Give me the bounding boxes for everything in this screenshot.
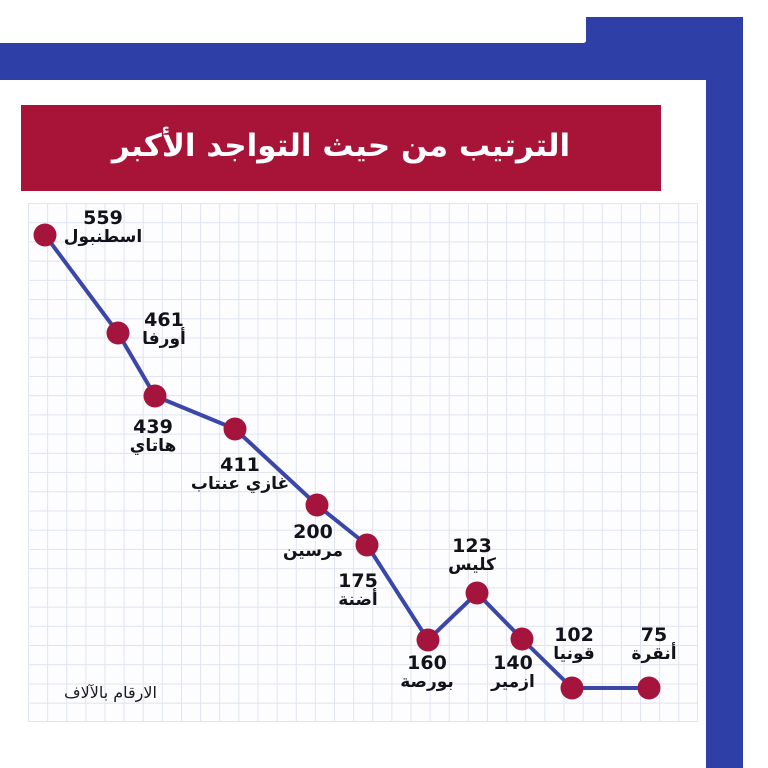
data-point-marker: [306, 494, 329, 517]
data-point-city: ازمير: [491, 674, 535, 691]
data-point-marker: [511, 628, 534, 651]
data-point-city: مرسين: [283, 543, 343, 560]
data-point-city: أضنة: [338, 592, 378, 609]
data-point-marker: [466, 582, 489, 605]
data-point-value: 123: [448, 537, 496, 556]
data-point-label: 75أنقرة: [631, 626, 676, 664]
data-point-value: 461: [142, 311, 186, 330]
data-point-city: كليس: [448, 557, 496, 574]
data-point-label: 140ازمير: [491, 654, 535, 692]
blue-band-notch: [586, 17, 626, 80]
data-point-marker: [144, 385, 167, 408]
infographic-root: الترتيب من حيث التواجد الأكبر 559اسطنبول…: [0, 0, 768, 768]
data-point-marker: [561, 677, 584, 700]
data-point-city: اسطنبول: [64, 229, 142, 246]
data-point-label: 123كليس: [448, 537, 496, 575]
data-point-label: 461أورفا: [142, 311, 186, 349]
data-point-marker: [107, 322, 130, 345]
data-point-value: 559: [64, 209, 142, 228]
data-point-label: 439هاتاي: [130, 418, 177, 456]
data-line: [45, 235, 649, 688]
data-point-city: غازي عنتاب: [191, 476, 289, 493]
line-chart-svg: [28, 203, 698, 722]
data-point-label: 102قونيا: [553, 626, 595, 664]
data-point-label: 411غازي عنتاب: [191, 456, 289, 494]
data-point-label: 559اسطنبول: [64, 209, 142, 247]
data-point-label: 175أضنة: [338, 572, 378, 610]
blue-vertical-bar: [706, 17, 743, 768]
data-point-city: أنقرة: [631, 646, 676, 663]
data-point-marker: [356, 534, 379, 557]
data-point-label: 200مرسين: [283, 523, 343, 561]
title-banner: الترتيب من حيث التواجد الأكبر: [21, 105, 661, 191]
data-point-value: 75: [631, 626, 676, 645]
page-title: الترتيب من حيث التواجد الأكبر: [112, 131, 570, 165]
data-point-marker: [224, 418, 247, 441]
chart-container: [28, 203, 698, 722]
data-point-value: 102: [553, 626, 595, 645]
data-point-city: بورصة: [400, 674, 454, 691]
data-point-value: 160: [400, 654, 454, 673]
data-point-marker: [34, 224, 57, 247]
data-point-city: هاتاي: [130, 438, 177, 455]
data-point-value: 411: [191, 456, 289, 475]
data-point-city: أورفا: [142, 331, 186, 348]
data-point-value: 200: [283, 523, 343, 542]
data-point-value: 140: [491, 654, 535, 673]
chart-footnote: الارقام بالآلاف: [64, 683, 157, 702]
data-point-value: 439: [130, 418, 177, 437]
data-point-value: 175: [338, 572, 378, 591]
data-point-label: 160بورصة: [400, 654, 454, 692]
blue-band-shape: [0, 17, 743, 80]
data-point-city: قونيا: [553, 646, 595, 663]
data-point-marker: [417, 629, 440, 652]
data-point-marker: [638, 677, 661, 700]
